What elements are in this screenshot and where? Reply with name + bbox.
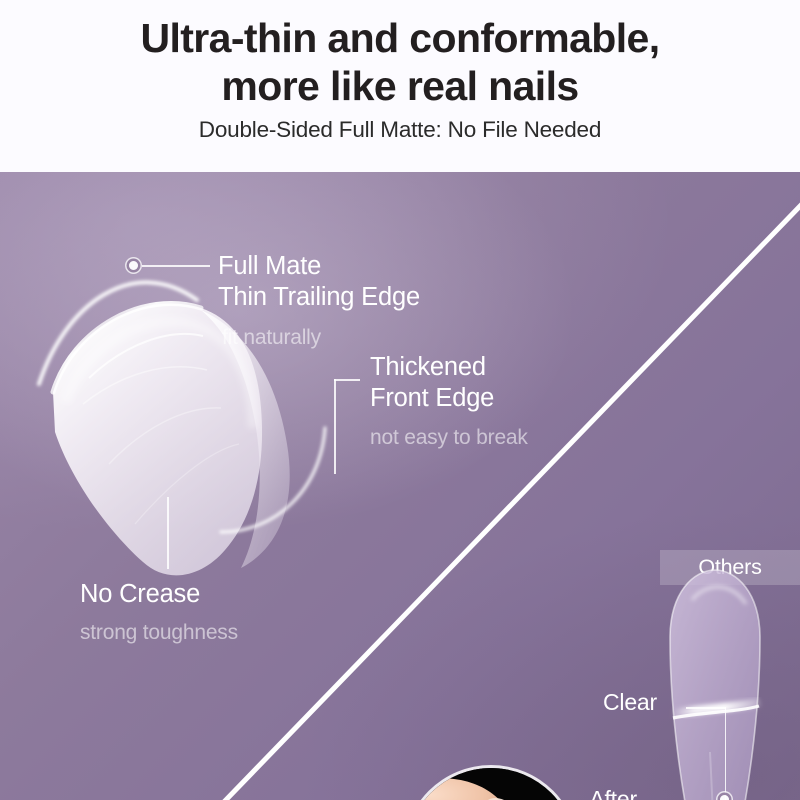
callout-thickened-line-1: Thickened — [370, 352, 528, 383]
callout-thickened-subtext: not easy to break — [370, 424, 528, 452]
promo-graphic: Ultra-thin and conformable, more like re… — [0, 0, 800, 800]
callout-leader-thickened-vertical — [334, 379, 336, 474]
page-title: Ultra-thin and conformable, more like re… — [20, 14, 780, 110]
callout-full-matte: Full Mate Thin Trailing Edge fit natural… — [218, 251, 420, 352]
callout-after-bend: After Bend — [584, 785, 637, 800]
others-badge-label: Others — [698, 555, 761, 580]
callout-leader-clear-vertical — [725, 707, 727, 800]
callout-dot-clear — [720, 795, 729, 800]
callout-leader-no-crease — [167, 497, 169, 569]
callout-after-bend-line-1: After — [584, 785, 637, 800]
bend-demo-photo — [406, 768, 576, 800]
callout-no-crease: No Crease strong toughness — [80, 579, 238, 647]
callout-leader-full-matte — [142, 265, 210, 267]
callout-thickened-front-edge: Thickened Front Edge not easy to break — [370, 352, 528, 452]
product-comparison-panel: Full Mate Thin Trailing Edge fit natural… — [0, 172, 800, 800]
callout-full-matte-line-1: Full Mate — [218, 251, 420, 282]
page-title-line-1: Ultra-thin and conformable, — [20, 14, 780, 62]
callout-full-matte-subtext: fit naturally — [222, 324, 420, 352]
callout-full-matte-line-2: Thin Trailing Edge — [218, 282, 420, 313]
page-subtitle: Double-Sided Full Matte: No File Needed — [199, 117, 601, 143]
page-title-line-2: more like real nails — [20, 62, 780, 110]
others-badge: Others — [660, 550, 800, 585]
callout-no-crease-subtext: strong toughness — [80, 619, 238, 647]
callout-dot-full-matte — [129, 261, 138, 270]
callout-leader-thickened-horizontal — [334, 379, 360, 381]
callout-no-crease-line-1: No Crease — [80, 579, 238, 610]
callout-leader-clear-horizontal — [686, 707, 726, 709]
callout-thickened-line-2: Front Edge — [370, 383, 528, 414]
header-banner: Ultra-thin and conformable, more like re… — [0, 0, 800, 172]
callout-clear: Clear — [603, 688, 657, 716]
